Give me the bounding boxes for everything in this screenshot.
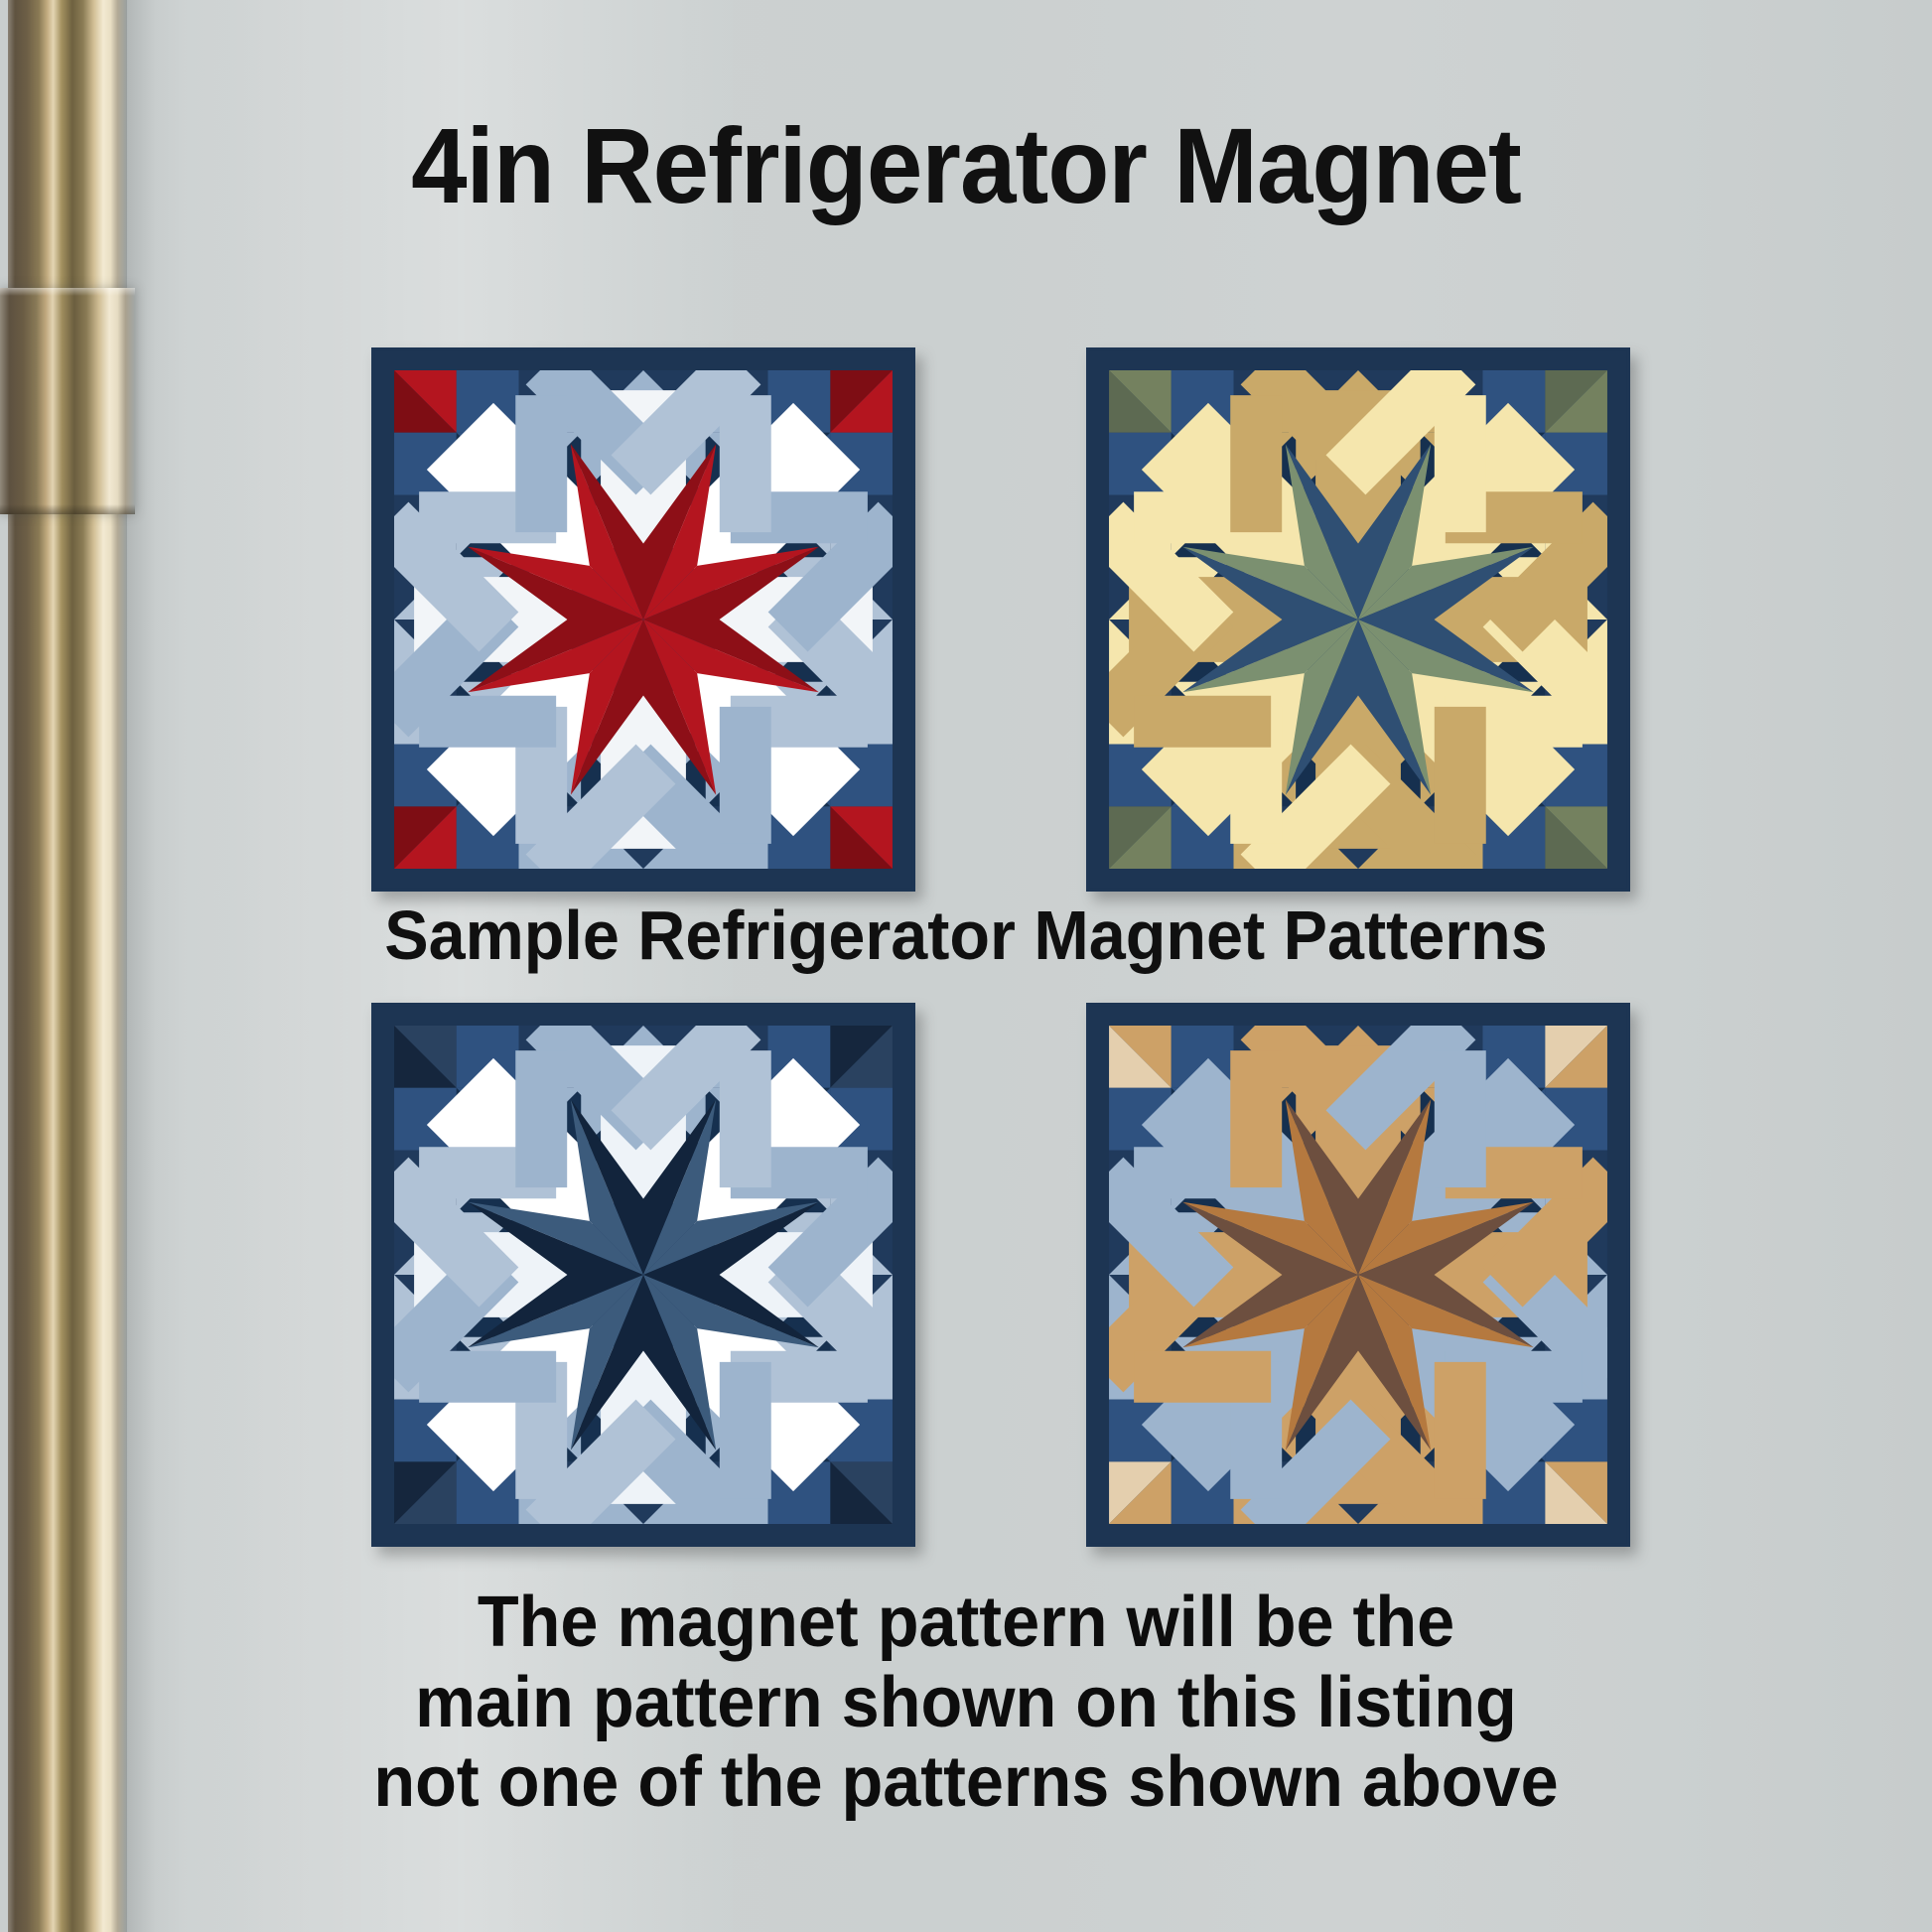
handle-end-cap bbox=[0, 288, 135, 514]
disclaimer-line-2: main pattern shown on this listing bbox=[49, 1663, 1884, 1743]
quilt-pattern-all-blue bbox=[371, 1003, 915, 1547]
quilt-tile-bottom-right[interactable] bbox=[1086, 1003, 1630, 1547]
quilt-tile-bottom-left[interactable] bbox=[371, 1003, 915, 1547]
disclaimer-line-1: The magnet pattern will be the bbox=[49, 1583, 1884, 1663]
page-title: 4in Refrigerator Magnet bbox=[58, 111, 1873, 220]
screenshot-stage: 4in Refrigerator Magnet Sample Refrigera… bbox=[0, 0, 1932, 1932]
handle-cap-shade bbox=[0, 504, 135, 514]
disclaimer-note: The magnet pattern will be the main patt… bbox=[49, 1583, 1884, 1823]
sample-patterns-caption: Sample Refrigerator Magnet Patterns bbox=[49, 899, 1884, 973]
disclaimer-line-3: not one of the patterns shown above bbox=[49, 1742, 1884, 1823]
quilt-pattern-blue-tan-brown bbox=[1086, 1003, 1630, 1547]
quilt-pattern-red-white-blue bbox=[371, 347, 915, 892]
quilt-pattern-gold-green-blue bbox=[1086, 347, 1630, 892]
handle-cap-highlight bbox=[0, 288, 135, 296]
quilt-tile-top-right[interactable] bbox=[1086, 347, 1630, 892]
quilt-tile-top-left[interactable] bbox=[371, 347, 915, 892]
